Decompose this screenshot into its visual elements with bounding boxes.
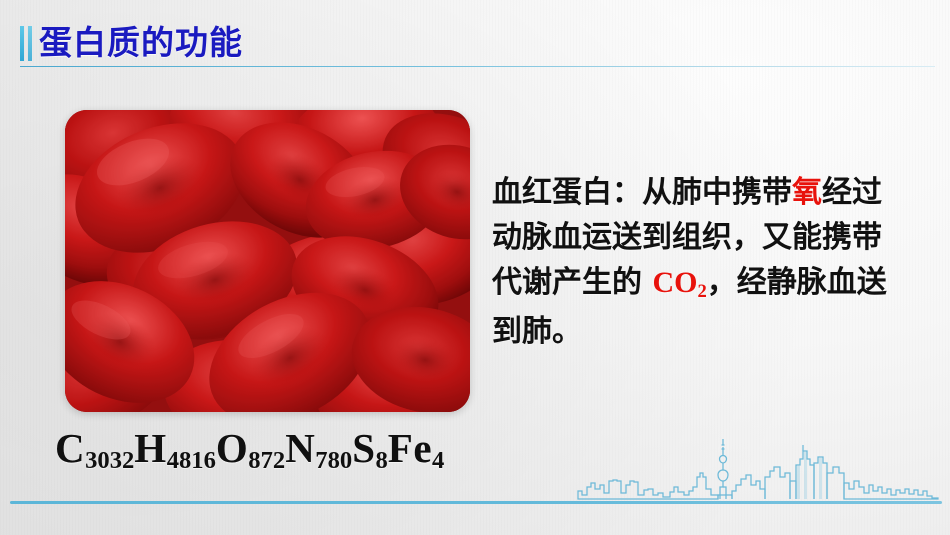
chemical-co2: CO2 — [652, 266, 706, 299]
horizontal-rule — [10, 501, 942, 504]
formula-element-h: H — [134, 425, 166, 471]
double-bar-icon — [20, 26, 32, 61]
highlight-oxygen: 氧 — [792, 175, 822, 210]
co2-subscript: 2 — [697, 281, 706, 302]
formula-element-c: C — [55, 425, 85, 471]
body-line-1: 血红蛋白：从肺中携带 — [492, 175, 792, 210]
formula-element-s: S — [352, 425, 375, 471]
formula-element-o: O — [216, 425, 248, 471]
title-underline — [20, 66, 935, 67]
formula-element-n: N — [285, 425, 315, 471]
formula-sub-h: 4816 — [167, 447, 216, 474]
formula-sub-s: 8 — [376, 447, 388, 474]
body-line-5: 肺。 — [522, 314, 582, 349]
chemical-formula: C3032H4816O872N780S8Fe4 — [55, 424, 444, 472]
formula-sub-n: 780 — [315, 447, 352, 474]
formula-sub-fe: 4 — [432, 447, 444, 474]
slide-canvas: 蛋白质的功能 — [0, 0, 950, 535]
formula-sub-c: 3032 — [85, 447, 134, 474]
body-paragraph: 血红蛋白：从肺中携带氧经过动脉血运送到组织，又能携带代谢产生的 CO2，经静脉血… — [492, 170, 907, 354]
red-blood-cells-photo — [65, 110, 470, 412]
formula-sub-o: 872 — [248, 447, 285, 474]
body-line-4-prefix: 的 — [612, 265, 652, 300]
co2-label: CO — [652, 266, 697, 299]
formula-element-fe: Fe — [388, 425, 432, 471]
city-skyline-icon — [560, 437, 950, 507]
slide-header: 蛋白质的功能 — [20, 24, 243, 61]
page-title: 蛋白质的功能 — [39, 26, 243, 59]
